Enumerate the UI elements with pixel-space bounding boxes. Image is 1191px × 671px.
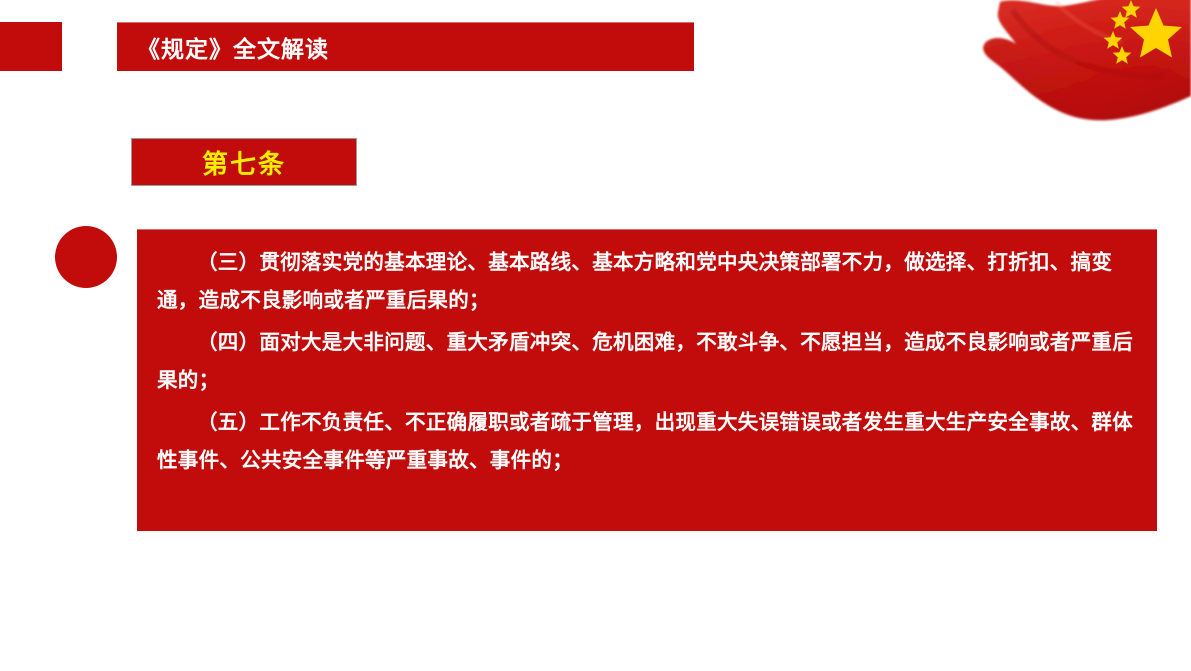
flag-stars (1104, 0, 1182, 64)
content-panel: （三）贯彻落实党的基本理论、基本路线、基本方略和党中央决策部署不力，做选择、打折… (137, 229, 1157, 531)
flag-small-star-2 (1111, 11, 1130, 29)
title-bar: 《规定》全文解读 (117, 22, 694, 71)
section-badge: 第七条 (131, 138, 357, 186)
corner-accent-block (0, 22, 62, 71)
flag-small-star-1 (1122, 0, 1141, 18)
content-paragraph-5: （五）工作不负责任、不正确履职或者疏于管理，出现重大失误错误或者发生重大生产安全… (157, 404, 1135, 480)
flag-small-star-4 (1113, 46, 1132, 64)
page-title: 《规定》全文解读 (117, 30, 329, 64)
flag-cloth (983, 0, 1191, 120)
flag-small-star-3 (1104, 31, 1123, 49)
red-circle-bullet (55, 226, 117, 288)
section-badge-label: 第七条 (202, 144, 286, 181)
flag-large-star (1130, 8, 1182, 58)
content-paragraph-3: （三）贯彻落实党的基本理论、基本路线、基本方略和党中央决策部署不力，做选择、打折… (157, 244, 1135, 320)
china-flag-graphic (960, 0, 1191, 140)
content-paragraph-4: （四）面对大是大非问题、重大矛盾冲突、危机困难，不敢斗争、不愿担当，造成不良影响… (157, 324, 1135, 400)
